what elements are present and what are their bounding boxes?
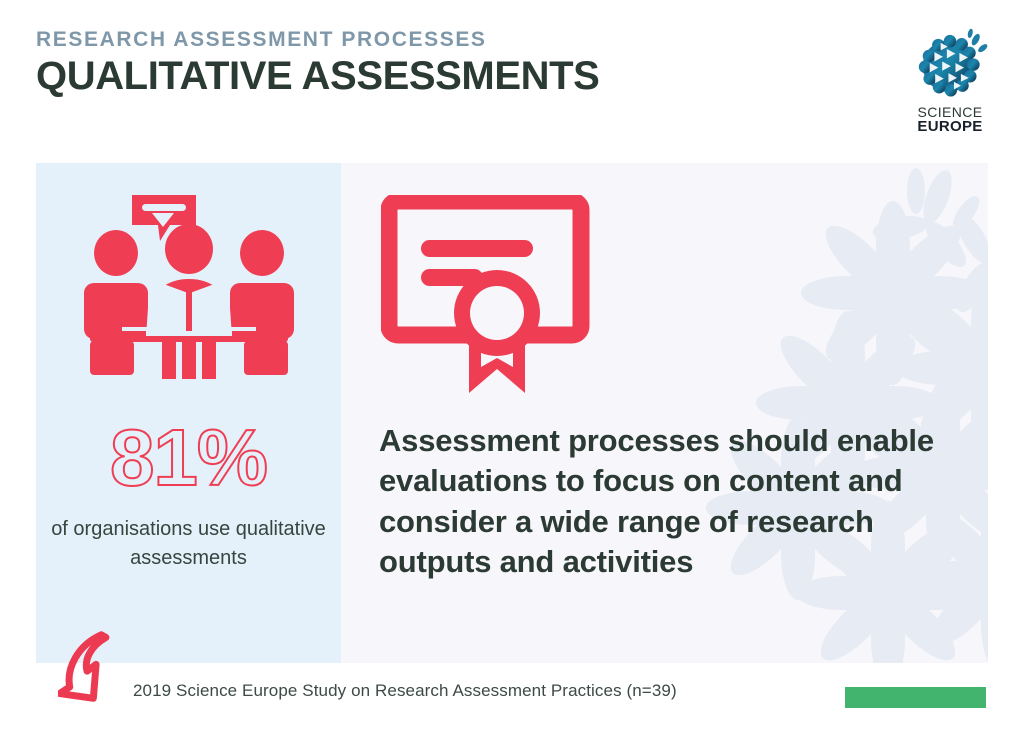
main-message: Assessment processes should enable evalu… bbox=[379, 421, 979, 582]
logo-wordmark: SCIENCE EUROPE bbox=[904, 105, 996, 134]
logo-line-europe: EUROPE bbox=[904, 119, 996, 134]
stat-caption: of organisations use qualitative assessm… bbox=[36, 515, 341, 573]
page-title: QUALITATIVE ASSESSMENTS bbox=[36, 54, 736, 99]
curved-down-arrow-icon bbox=[58, 630, 128, 715]
message-panel: Assessment processes should enable evalu… bbox=[341, 163, 988, 663]
certificate-seal-icon bbox=[381, 195, 597, 395]
content-panels: 81% of organisations use qualitative ass… bbox=[36, 163, 988, 663]
statistic-panel: 81% of organisations use qualitative ass… bbox=[36, 163, 341, 663]
stat-percentage: 81% bbox=[36, 418, 341, 498]
logo-line-science: SCIENCE bbox=[904, 105, 996, 119]
floral-petal-watermark bbox=[698, 163, 988, 663]
source-note: 2019 Science Europe Study on Research As… bbox=[133, 681, 677, 701]
faceted-sphere-icon bbox=[911, 24, 989, 102]
eyebrow-text: RESEARCH ASSESSMENT PROCESSES bbox=[36, 28, 736, 52]
accent-bar bbox=[845, 687, 986, 708]
science-europe-logo: SCIENCE EUROPE bbox=[904, 24, 996, 134]
page-header: RESEARCH ASSESSMENT PROCESSES QUALITATIV… bbox=[36, 28, 736, 99]
meeting-people-icon bbox=[76, 191, 302, 383]
